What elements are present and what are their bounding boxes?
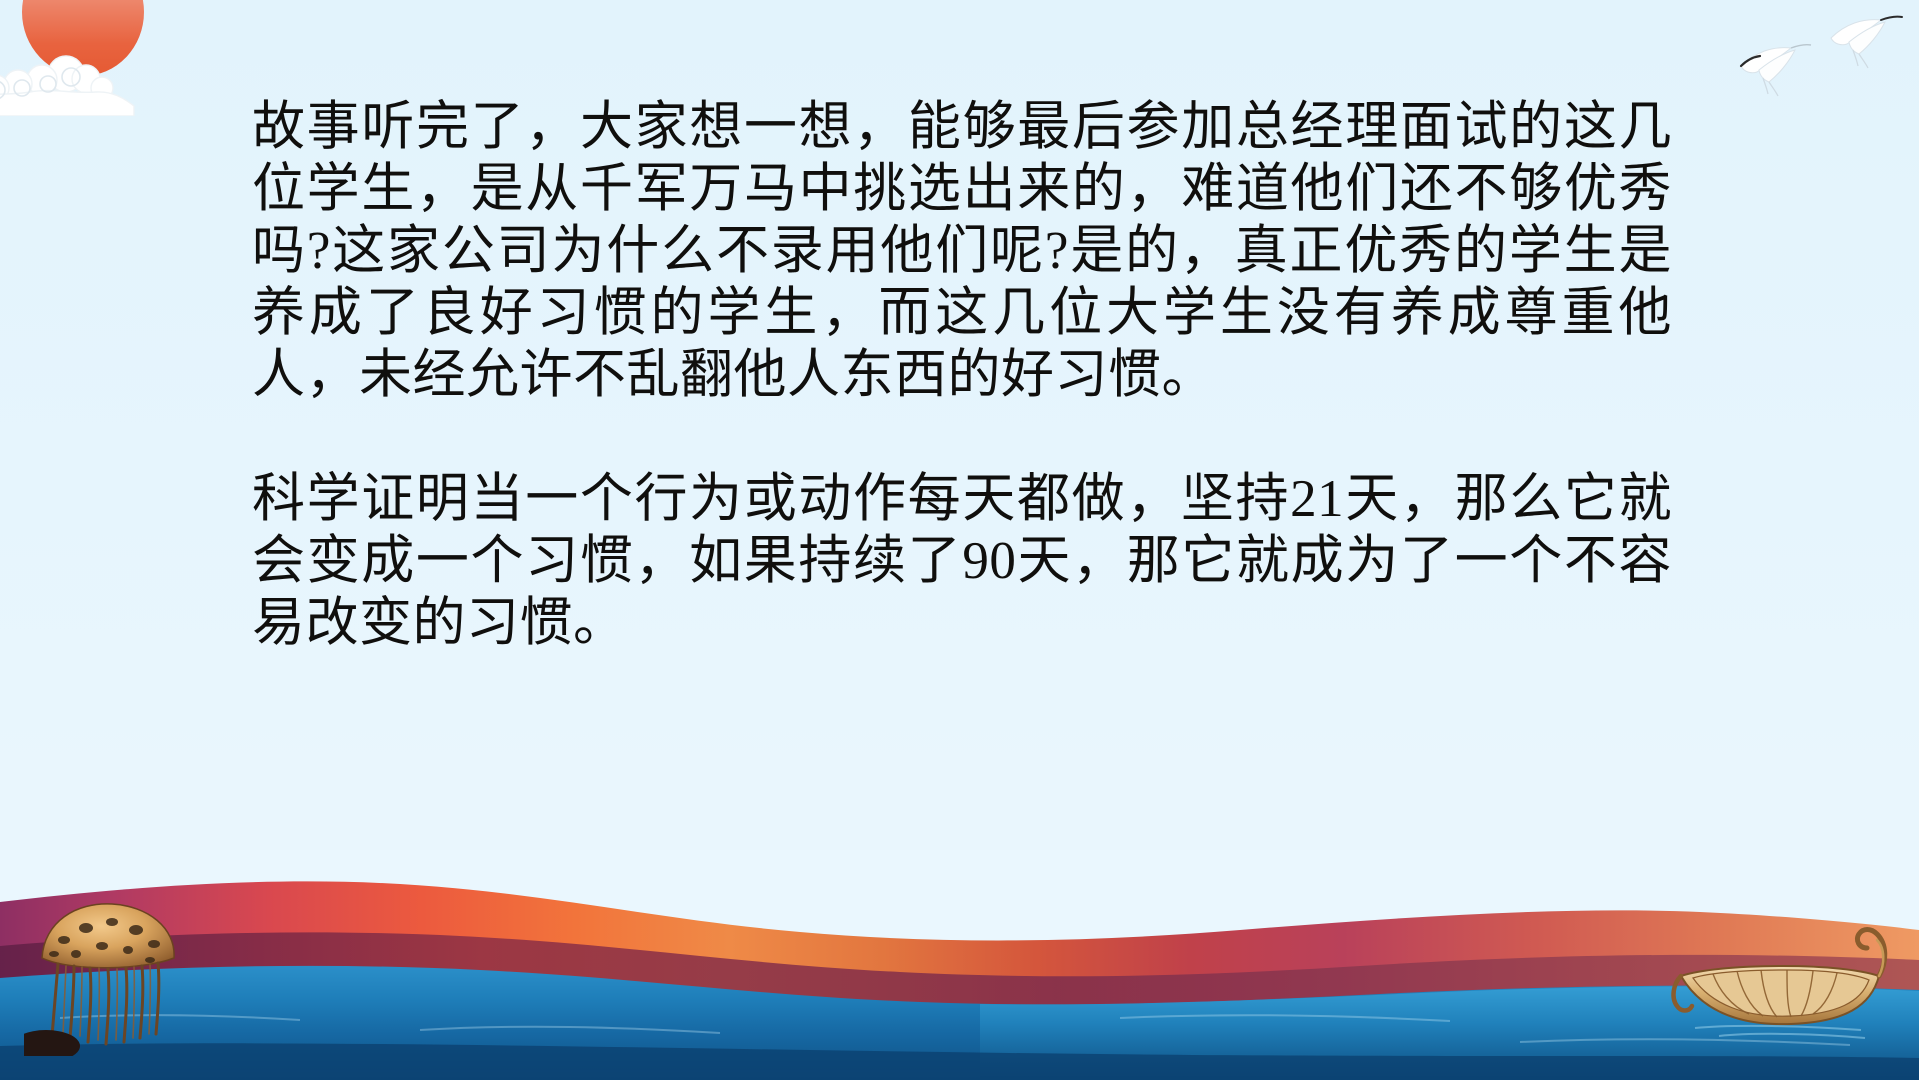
slide-text-content: 故事听完了，大家想一想，能够最后参加总经理面试的这几位学生，是从千军万马中挑选出…: [252, 96, 1672, 654]
paragraph-2: 科学证明当一个行为或动作每天都做，坚持21天，那么它就会变成一个习惯，如果持续了…: [252, 468, 1672, 654]
cloud-icon: [0, 46, 174, 110]
jellyfish-tree-icon: [24, 896, 214, 1056]
presentation-slide: 故事听完了，大家想一想，能够最后参加总经理面试的这几位学生，是从千军万马中挑选出…: [0, 0, 1919, 1080]
wooden-boat-icon: [1665, 914, 1895, 1044]
crane-bird-icon: [1733, 4, 1913, 100]
paragraph-1: 故事听完了，大家想一想，能够最后参加总经理面试的这几位学生，是从千军万马中挑选出…: [252, 96, 1672, 406]
sunset-landscape-icon: [0, 850, 1919, 1080]
